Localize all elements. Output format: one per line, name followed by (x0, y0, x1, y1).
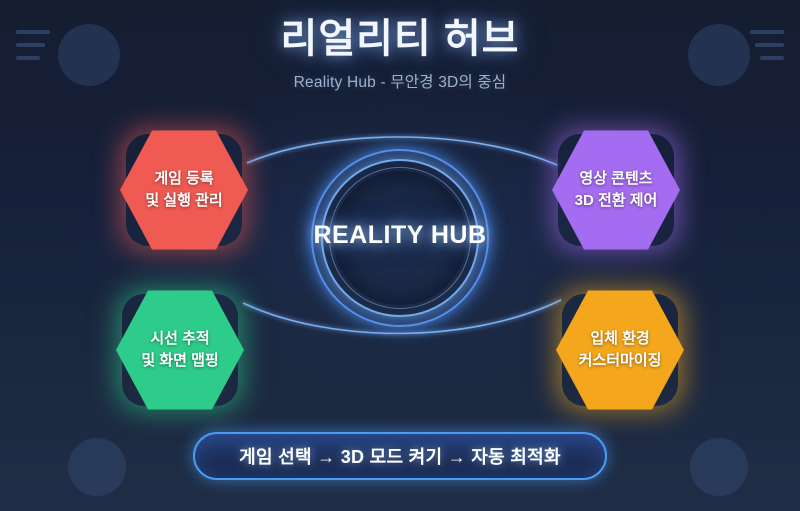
header: 리얼리티 허브 Reality Hub - 무안경 3D의 중심 (0, 16, 800, 92)
node-label-line1: 영상 콘텐츠 (579, 168, 652, 190)
hub-label: REALITY HUB (277, 221, 523, 250)
page-subtitle: Reality Hub - 무안경 3D의 중심 (0, 70, 800, 92)
decorative-circle-bottom-right (690, 438, 748, 496)
workflow-text: 게임 선택 → 3D 모드 켜기 → 자동 최적화 (239, 443, 561, 469)
workflow-pill[interactable]: 게임 선택 → 3D 모드 켜기 → 자동 최적화 (193, 432, 607, 480)
node-label-line2: 커스터마이징 (579, 350, 662, 372)
page-title: 리얼리티 허브 (0, 16, 800, 62)
decorative-circle-bottom-left (68, 438, 126, 496)
node-label-line1: 게임 등록 (154, 168, 213, 190)
node-label-line1: 입체 환경 (590, 328, 649, 350)
node-label-line1: 시선 추적 (150, 328, 209, 350)
node-label-line2: 및 화면 맵핑 (141, 350, 218, 372)
reality-hub-infographic: 리얼리티 허브 Reality Hub - 무안경 3D의 중심 REALITY… (0, 0, 800, 511)
hub-core-graphic: REALITY HUB (317, 155, 483, 321)
node-label-line2: 및 실행 관리 (145, 190, 222, 212)
node-label-line2: 3D 전환 제어 (575, 190, 658, 212)
